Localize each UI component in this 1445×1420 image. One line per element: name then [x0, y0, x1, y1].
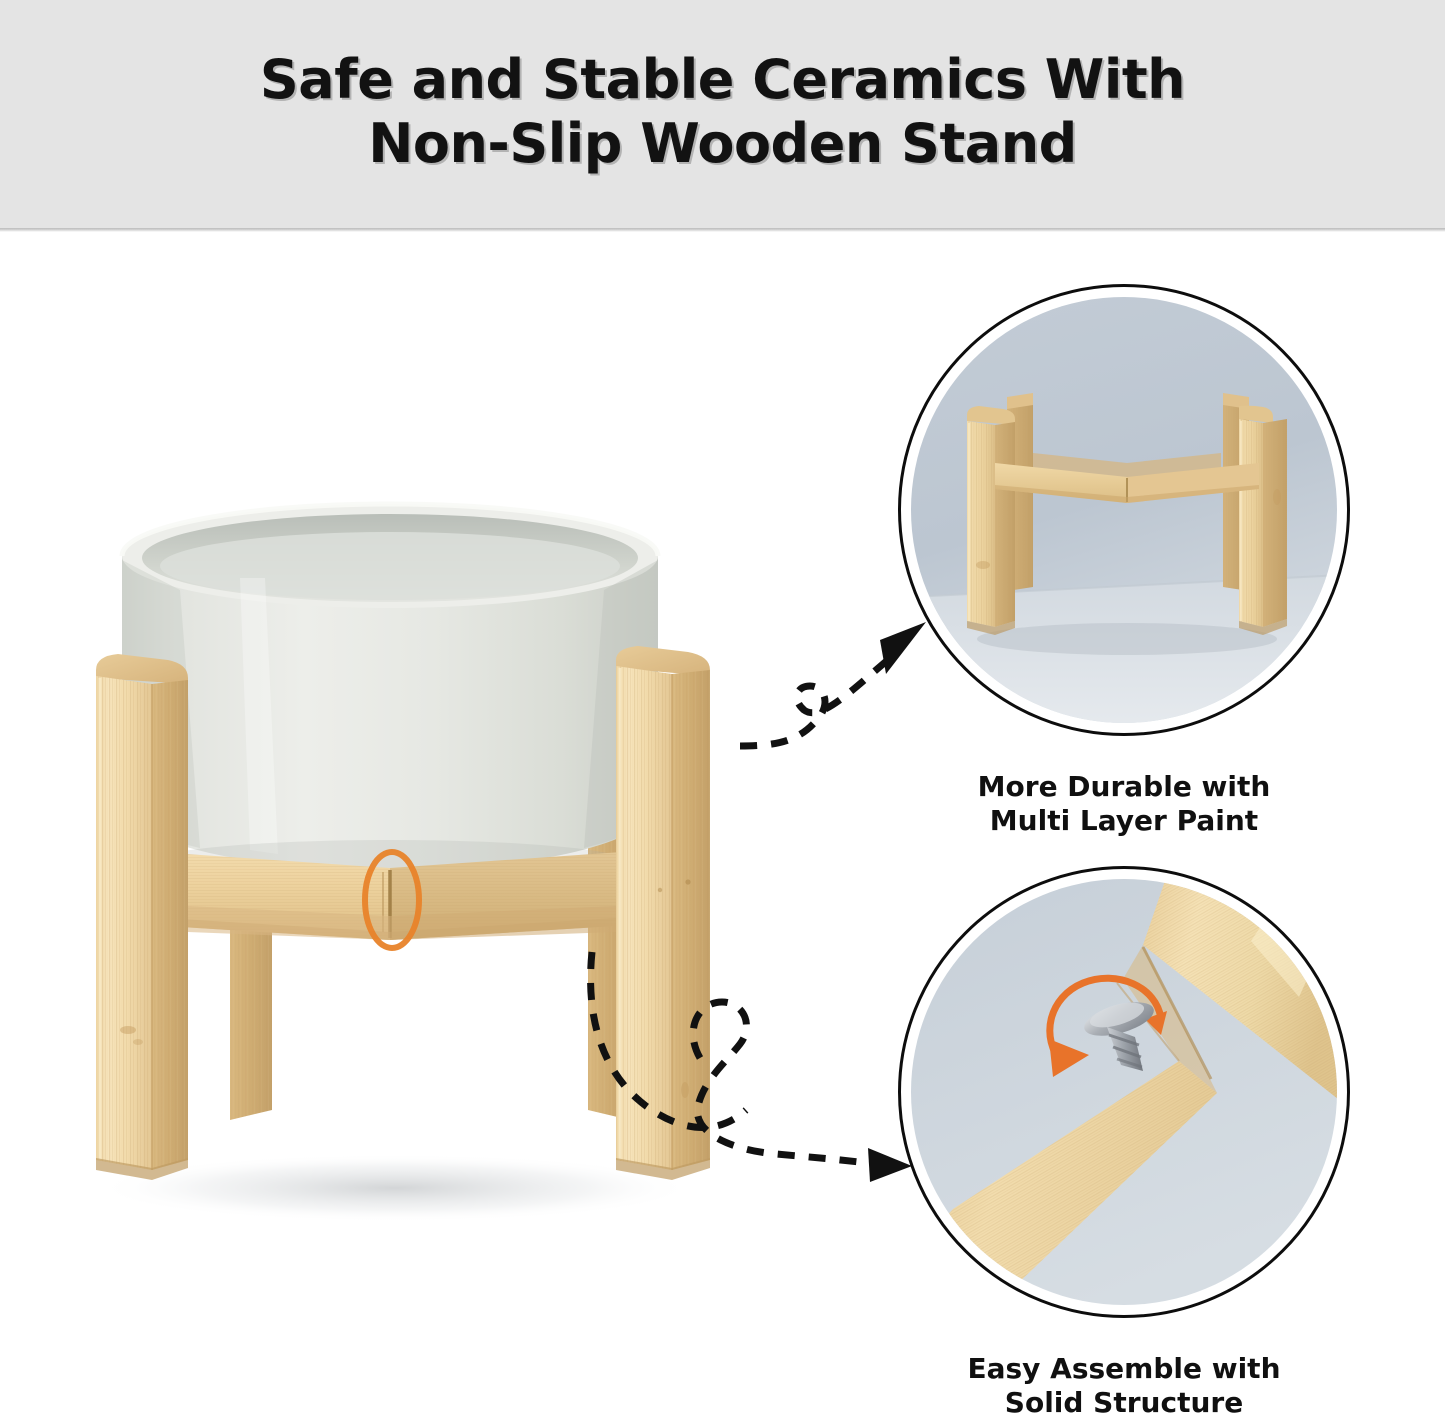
caption-bottom-line-2: Solid Structure: [898, 1386, 1350, 1420]
title-line-1: Safe and Stable Ceramics With: [0, 48, 1445, 112]
main-product-photo: [60, 470, 820, 1250]
header-divider: [0, 228, 1445, 232]
bamboo-rails-screw-closeup-photo: [911, 879, 1337, 1305]
inset-stand-front-leg-right: [1239, 406, 1287, 635]
page-title: Safe and Stable Ceramics With Non-Slip W…: [0, 48, 1445, 176]
ceramic-bowl: [122, 504, 658, 884]
inset-stand-front-leg-left: [967, 406, 1015, 635]
caption-top-line-1: More Durable with: [898, 770, 1350, 804]
caption-durable-paint: More Durable with Multi Layer Paint: [898, 770, 1350, 838]
title-line-2: Non-Slip Wooden Stand: [0, 112, 1445, 176]
caption-bottom-line-1: Easy Assemble with: [898, 1352, 1350, 1386]
bamboo-stand-alone-photo: [911, 297, 1337, 723]
inset-circle-durable-paint: [898, 284, 1350, 736]
stand-front-leg-right: [616, 646, 710, 1180]
stand-front-leg-left: [96, 654, 188, 1180]
inset-circle-easy-assemble: [898, 866, 1350, 1318]
caption-top-line-2: Multi Layer Paint: [898, 804, 1350, 838]
